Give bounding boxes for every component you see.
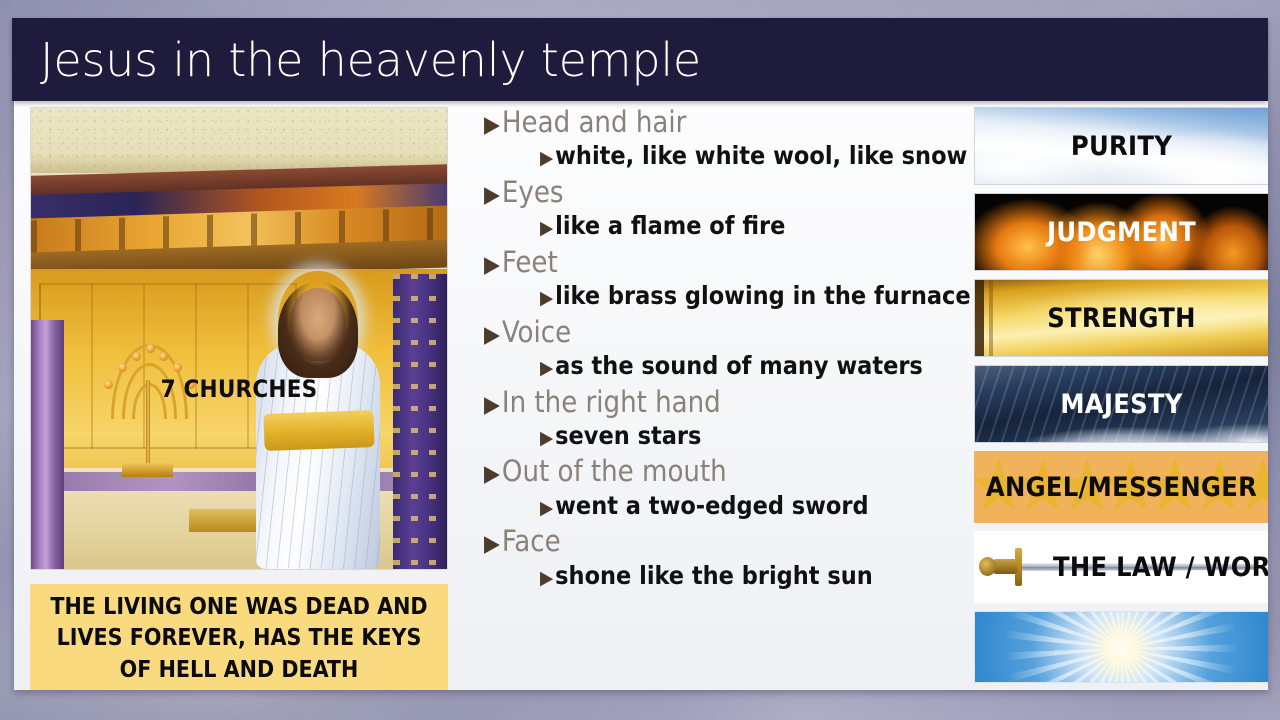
jesus-figure-icon <box>247 288 388 569</box>
seven-churches-label: 7 CHURCHES <box>30 375 448 403</box>
caption-box: THE LIVING ONE WAS DEAD AND LIVES FOREVE… <box>30 584 448 690</box>
bullet-topic-label: Feet <box>502 245 558 280</box>
symbol-card-angel-messenger: ANGEL/MESSENGER <box>974 451 1268 523</box>
bullet-group: ▶ Head and hair ▶ white, like white wool… <box>474 105 964 172</box>
temple-illustration <box>30 107 448 570</box>
menorah-icon <box>102 339 194 477</box>
bullet-group: ▶ Feet ▶ like brass glowing in the furna… <box>474 245 964 312</box>
symbol-card-label: THE LAW / WORD <box>1053 552 1268 583</box>
bullet-detail-label: shone like the bright sun <box>555 561 873 592</box>
symbol-card-strength: STRENGTH <box>974 279 1268 357</box>
bullet-detail-label: seven stars <box>555 421 701 452</box>
symbol-card-column: PURITY JUDGMENT STRENGTH MAJESTY ANGEL/M… <box>960 103 1268 688</box>
symbol-card-label: PURITY <box>1071 131 1172 162</box>
bullet-topic-label: Out of the mouth <box>502 454 727 489</box>
bullet-detail: ▶ shone like the bright sun <box>540 561 964 592</box>
triangle-bullet-icon: ▶ <box>484 181 500 209</box>
triangle-bullet-icon: ▶ <box>540 287 553 310</box>
bullet-detail: ▶ like a flame of fire <box>540 211 964 242</box>
triangle-bullet-icon: ▶ <box>484 321 500 349</box>
bullet-topic-label: Head and hair <box>502 105 686 140</box>
bullet-topic: ▶ Head and hair <box>484 105 964 140</box>
symbol-card-law-word: THE LAW / WORD <box>974 531 1268 603</box>
symbol-card-label: MAJESTY <box>1060 389 1182 420</box>
bullet-topic: ▶ Face <box>484 524 964 559</box>
bullet-topic: ▶ Feet <box>484 245 964 280</box>
bullet-topic: ▶ Voice <box>484 315 964 350</box>
triangle-bullet-icon: ▶ <box>540 147 553 170</box>
triangle-bullet-icon: ▶ <box>540 497 553 520</box>
symbol-card-judgment: JUDGMENT <box>974 193 1268 271</box>
bullet-detail: ▶ like brass glowing in the furnace <box>540 281 964 312</box>
triangle-bullet-icon: ▶ <box>484 111 500 139</box>
triangle-bullet-icon: ▶ <box>540 217 553 240</box>
symbol-card-purity: PURITY <box>974 107 1268 185</box>
bullet-topic: ▶ Eyes <box>484 175 964 210</box>
bullet-group: ▶ Face ▶ shone like the bright sun <box>474 524 964 591</box>
triangle-bullet-icon: ▶ <box>484 251 500 279</box>
bullet-detail-label: as the sound of many waters <box>555 351 923 382</box>
temple-curtain-left-icon <box>31 320 64 569</box>
bullet-group: ▶ In the right hand ▶ seven stars <box>474 385 964 452</box>
bullet-topic: ▶ Out of the mouth <box>484 454 964 489</box>
bullet-topic-label: Voice <box>502 315 571 350</box>
bullet-group: ▶ Out of the mouth ▶ went a two-edged sw… <box>474 454 964 521</box>
bullet-topic-label: In the right hand <box>502 385 721 420</box>
bullet-detail: ▶ as the sound of many waters <box>540 351 964 382</box>
bullet-topic-label: Face <box>502 524 561 559</box>
bullet-topic: ▶ In the right hand <box>484 385 964 420</box>
slide-title-bar: Jesus in the heavenly temple <box>12 18 1268 101</box>
triangle-bullet-icon: ▶ <box>540 357 553 380</box>
bullet-detail-label: like a flame of fire <box>555 211 785 242</box>
slide-content-panel: 7 CHURCHES THE LIVING ONE WAS DEAD AND L… <box>14 101 1268 690</box>
triangle-bullet-icon: ▶ <box>540 567 553 590</box>
left-column: 7 CHURCHES THE LIVING ONE WAS DEAD AND L… <box>30 107 458 685</box>
triangle-bullet-icon: ▶ <box>484 391 500 419</box>
temple-ceiling-icon <box>31 108 447 173</box>
symbol-card-majesty: MAJESTY <box>974 365 1268 443</box>
bullet-detail: ▶ seven stars <box>540 421 964 452</box>
symbol-card-label: ANGEL/MESSENGER <box>986 472 1257 503</box>
bullet-group: ▶ Eyes ▶ like a flame of fire <box>474 175 964 242</box>
bullet-detail-label: white, like white wool, like snow <box>555 141 967 172</box>
bullet-detail-label: went a two-edged sword <box>555 491 868 522</box>
bullet-group: ▶ Voice ▶ as the sound of many waters <box>474 315 964 382</box>
bullet-detail: ▶ white, like white wool, like snow <box>540 141 964 172</box>
attributes-bullet-list: ▶ Head and hair ▶ white, like white wool… <box>474 105 964 687</box>
slide-stage: Jesus in the heavenly temple <box>0 0 1280 720</box>
bullet-topic-label: Eyes <box>502 175 564 210</box>
triangle-bullet-icon: ▶ <box>540 427 553 450</box>
bullet-detail-label: like brass glowing in the furnace <box>555 281 971 312</box>
bullet-detail: ▶ went a two-edged sword <box>540 491 964 522</box>
triangle-bullet-icon: ▶ <box>484 530 500 558</box>
page-title: Jesus in the heavenly temple <box>40 33 701 87</box>
temple-curtain-right-icon <box>393 274 447 569</box>
symbol-card-label: JUDGMENT <box>1047 217 1196 248</box>
symbol-card-sun <box>974 611 1268 683</box>
symbol-card-label: STRENGTH <box>1047 303 1195 334</box>
triangle-bullet-icon: ▶ <box>484 460 500 488</box>
